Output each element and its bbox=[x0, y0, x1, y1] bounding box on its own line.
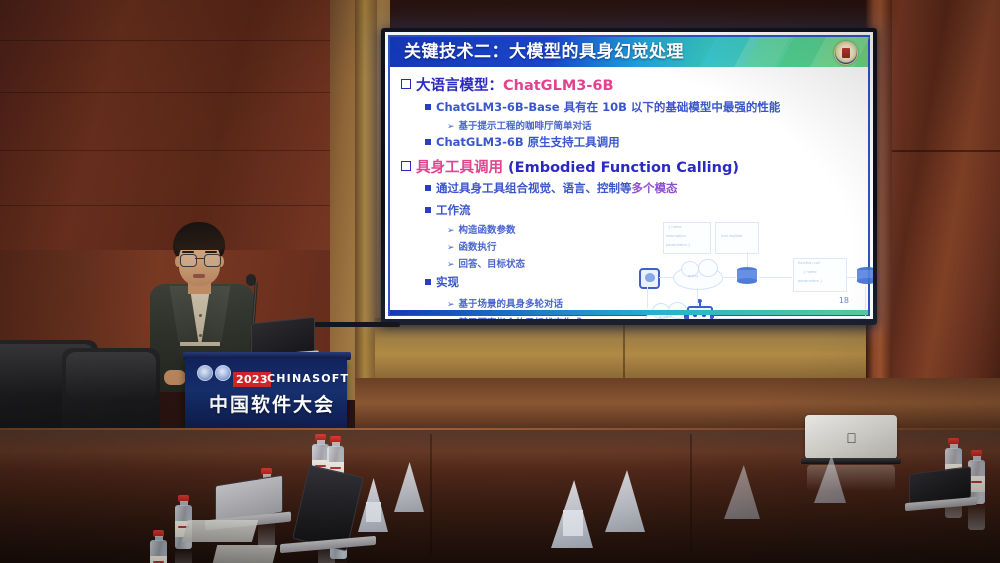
bullet-l3-build-params: ➢构造函数参数 bbox=[447, 222, 516, 236]
podium-brand-cn: 中国软件大会 bbox=[209, 390, 335, 417]
tool-spec-line-1: { name bbox=[668, 225, 682, 230]
function-call-line-1: function call bbox=[798, 261, 820, 266]
name-card-holder bbox=[810, 455, 852, 507]
arrow-bullet-icon: ➢ bbox=[447, 122, 455, 132]
bullet-l3-prompt-dialog: ➢基于提示工程的咖啡厅简单对话 bbox=[447, 118, 592, 132]
podium-year: 2023 bbox=[233, 372, 271, 387]
bullet-l3-goal-state: ➢基于顾客指令的目标状态生成 bbox=[447, 315, 582, 319]
tool-spec-line-3: parameters } bbox=[666, 243, 690, 248]
arrow-bullet-icon: ➢ bbox=[447, 243, 455, 253]
database-cylinder-2 bbox=[857, 267, 873, 284]
podium: 2023 CHINASOFT 中国软件大会 bbox=[185, 358, 347, 430]
apple-logo-icon:  bbox=[845, 431, 858, 445]
bullet-l2-multimodal: 通过具身工具组合视觉、语言、控制等多个模态 bbox=[425, 180, 678, 196]
function-call-line-2: { name bbox=[803, 270, 817, 275]
arrow-bullet-icon: ➢ bbox=[447, 226, 455, 236]
bullet-square-filled-icon bbox=[425, 279, 431, 285]
paper-documents bbox=[182, 520, 258, 542]
microphone bbox=[246, 274, 256, 286]
back-table bbox=[355, 378, 1000, 434]
bullet-square-filled-icon bbox=[425, 185, 431, 191]
bullet-l2-native-tool: ChatGLM3-6B 原生支持工具调用 bbox=[425, 134, 620, 150]
presenter-glasses bbox=[204, 254, 221, 267]
bullet-square-filled-icon bbox=[425, 139, 431, 145]
slide-bottom-accent-bar bbox=[390, 310, 868, 315]
bullet-l3-exec: ➢函数执行 bbox=[447, 239, 497, 253]
tool-spec-line-2: description bbox=[666, 234, 686, 239]
slide-page-number: 18 bbox=[839, 296, 849, 305]
answer-label: answer bbox=[659, 315, 672, 319]
name-card-holder bbox=[720, 465, 766, 523]
bullet-l3-answer-state: ➢回答、目标状态 bbox=[447, 256, 525, 270]
bullet-l3-scene-dialog: ➢基于场景的具身多轮对话 bbox=[447, 296, 563, 310]
bullet-l1-embodied-fc: 具身工具调用 (Embodied Function Calling) bbox=[401, 156, 739, 177]
bullet-l2-implementation: 实现 bbox=[425, 274, 459, 290]
bullet-l2-base-perf: ChatGLM3-6B-Base 具有在 10B 以下的基础模型中最强的性能 bbox=[425, 99, 780, 115]
presenter-hand bbox=[164, 370, 186, 385]
bullet-l1-llm: 大语言模型：ChatGLM3-6B bbox=[401, 74, 614, 95]
presentation-display: 关键技术二：大模型的具身幻觉处理 大语言模型：ChatGLM3-6B ChatG… bbox=[381, 28, 877, 325]
bullet-l2-workflow: 工作流 bbox=[425, 202, 471, 218]
name-card-holder bbox=[545, 480, 601, 552]
bullet-square-hollow-icon bbox=[401, 161, 411, 171]
user-face-icon bbox=[639, 268, 660, 289]
university-emblem-icon bbox=[834, 41, 858, 65]
arrow-bullet-icon: ➢ bbox=[447, 260, 455, 270]
database-cylinder-1 bbox=[737, 267, 757, 284]
back-wall-dark-wood bbox=[0, 0, 360, 250]
display-screen-surface: 关键技术二：大模型的具身幻觉处理 大语言模型：ChatGLM3-6B ChatG… bbox=[385, 32, 873, 319]
podium-brand-en: CHINASOFT bbox=[267, 372, 349, 385]
slide-title-bar: 关键技术二：大模型的具身幻觉处理 bbox=[390, 37, 868, 67]
function-calling-flow-diagram: { name description parameters } tool reg… bbox=[635, 222, 873, 319]
slide-body: 大语言模型：ChatGLM3-6B ChatGLM3-6B-Base 具有在 1… bbox=[395, 72, 865, 313]
paper-documents bbox=[213, 545, 277, 563]
arrow-bullet-icon: ➢ bbox=[447, 300, 455, 310]
function-call-line-3: parameters } bbox=[798, 279, 822, 284]
bullet-square-filled-icon bbox=[425, 104, 431, 110]
slide: 关键技术二：大模型的具身幻觉处理 大语言模型：ChatGLM3-6B ChatG… bbox=[385, 32, 873, 319]
foreground-laptop[interactable] bbox=[905, 470, 975, 510]
org-logo-left-icon bbox=[197, 365, 213, 381]
query-label: query bbox=[688, 274, 698, 279]
bullet-square-filled-icon bbox=[425, 207, 431, 213]
name-card-holder bbox=[390, 462, 430, 516]
presenter-glasses bbox=[180, 254, 197, 267]
wall-panel-under-screen bbox=[375, 318, 875, 378]
bullet-square-hollow-icon bbox=[401, 79, 411, 89]
tool-register-label: tool register bbox=[721, 234, 743, 239]
org-logo-right-icon bbox=[215, 365, 231, 381]
slide-title: 关键技术二：大模型的具身幻觉处理 bbox=[404, 39, 684, 66]
conference-room-screenshot: 关键技术二：大模型的具身幻觉处理 大语言模型：ChatGLM3-6B ChatG… bbox=[0, 0, 1000, 563]
name-card-holder bbox=[600, 470, 652, 536]
